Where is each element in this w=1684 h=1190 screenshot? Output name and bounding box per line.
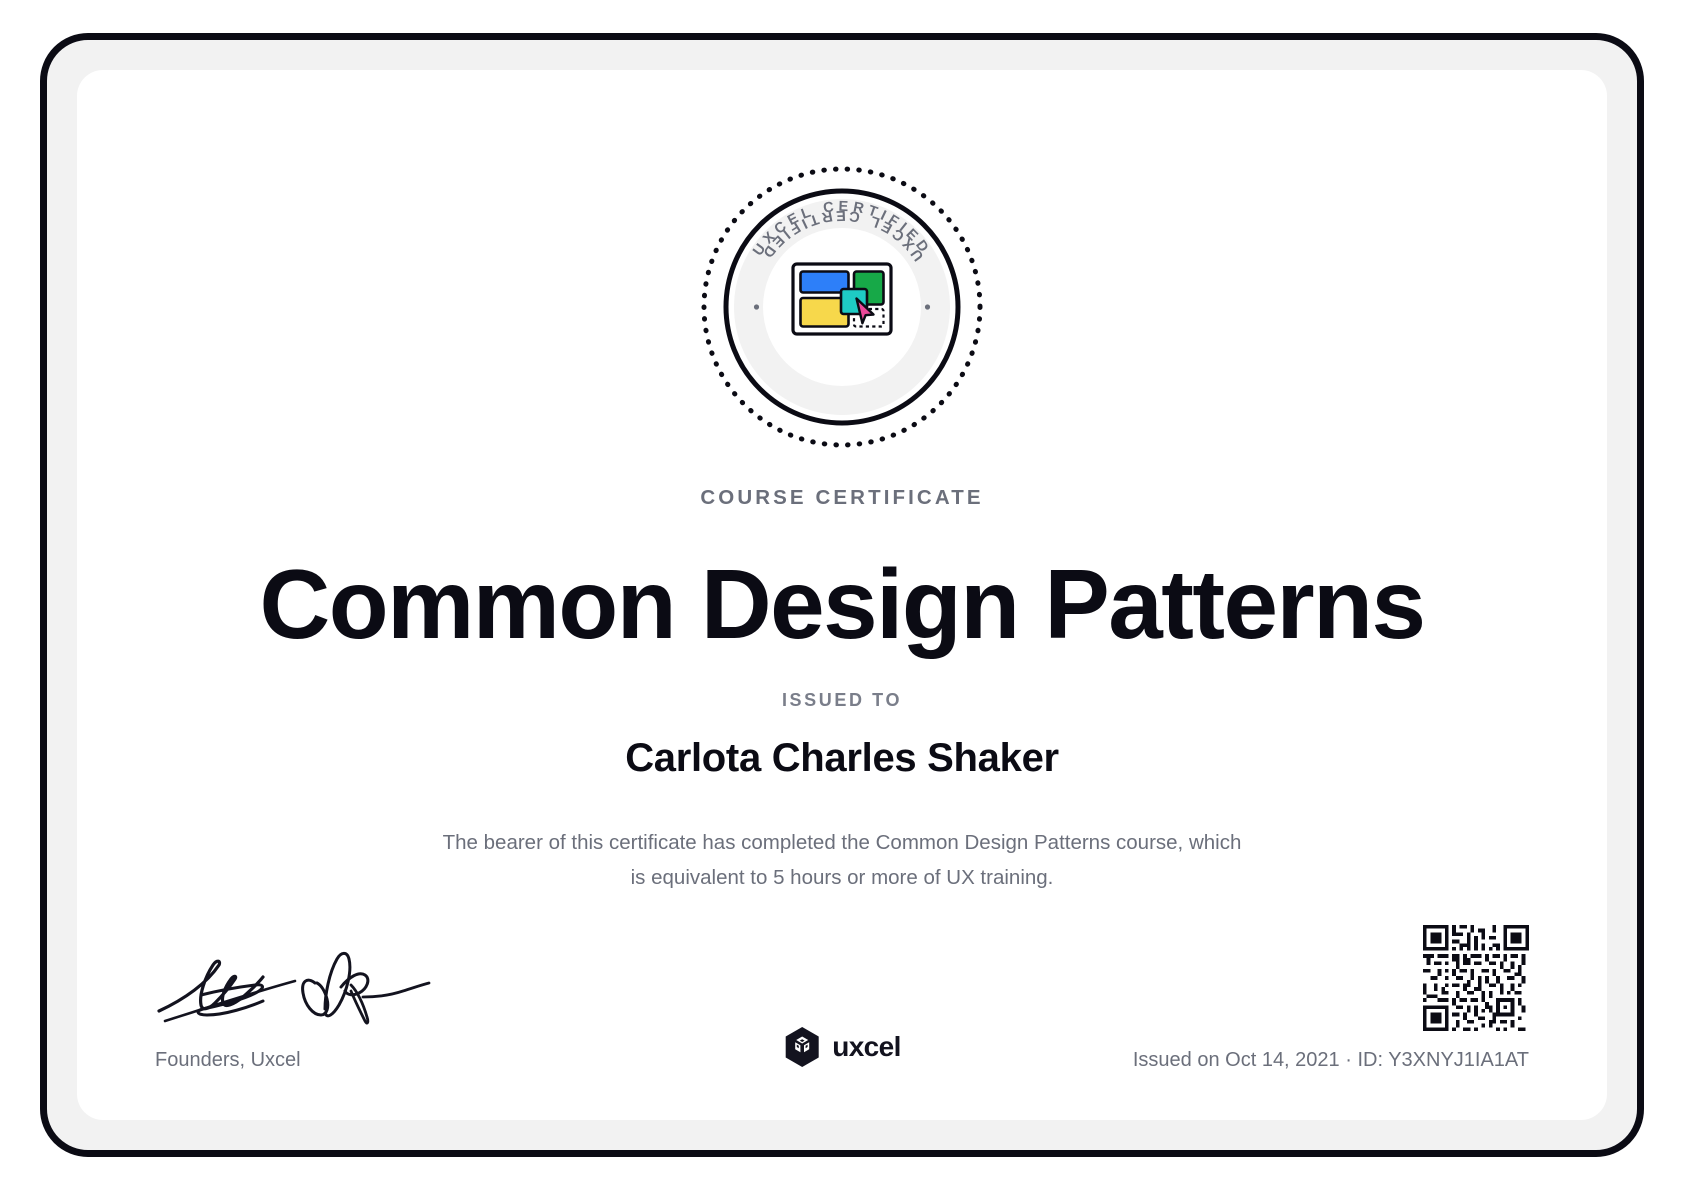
seal-bullet-right	[925, 304, 930, 309]
seal-bullet-left	[754, 304, 759, 309]
issue-metadata: Issued on Oct 14, 2021 · ID: Y3XNYJ1IA1A…	[1133, 1049, 1529, 1072]
certificate-description: The bearer of this certificate has compl…	[442, 825, 1242, 896]
verification-qr-code[interactable]	[1423, 925, 1529, 1031]
uxcel-logo: uxcel	[783, 1026, 901, 1068]
founders-label: Founders, Uxcel	[155, 1049, 485, 1072]
certificate-frame: UXCEL CERTIFIED UXCEL CERTIFIED	[40, 33, 1644, 1157]
page-title: Common Design Patterns	[77, 550, 1607, 660]
verification-block: Issued on Oct 14, 2021 · ID: Y3XNYJ1IA1A…	[1133, 925, 1529, 1072]
certificate-footer: Founders, Uxcel uxc	[77, 912, 1607, 1072]
brand-name: uxcel	[832, 1031, 901, 1063]
course-certificate-kicker: COURSE CERTIFICATE	[77, 486, 1607, 510]
founder-signatures	[155, 947, 455, 1043]
wireframe-window-icon	[793, 264, 891, 334]
issued-to-label: ISSUED TO	[77, 690, 1607, 711]
certificate-card: UXCEL CERTIFIED UXCEL CERTIFIED	[77, 70, 1607, 1120]
recipient-name: Carlota Charles Shaker	[77, 736, 1607, 781]
uxcel-hexagon-cube-logo	[783, 1026, 821, 1068]
signature-block: Founders, Uxcel	[155, 947, 485, 1072]
certification-seal: UXCEL CERTIFIED UXCEL CERTIFIED	[697, 162, 987, 452]
